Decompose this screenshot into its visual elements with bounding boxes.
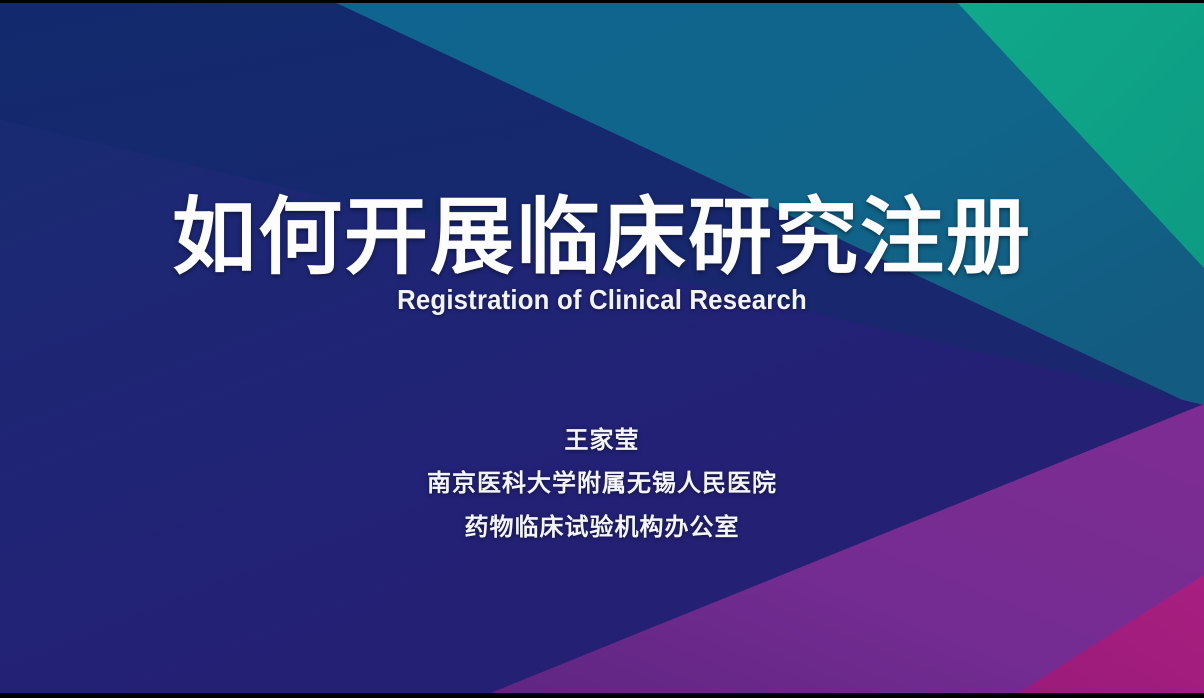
slide-title-chinese: 如何开展临床研究注册 xyxy=(0,196,1204,278)
slide-content: 如何开展临床研究注册 Registration of Clinical Rese… xyxy=(0,0,1204,698)
presenter-organization: 南京医科大学附属无锡人民医院 xyxy=(0,471,1204,497)
presenter-block: 王家莹 南京医科大学附属无锡人民医院 药物临床试验机构办公室 xyxy=(0,428,1204,541)
slide-subtitle-english: Registration of Clinical Research xyxy=(48,284,1156,316)
letterbox-bottom-bar xyxy=(0,693,1204,698)
letterbox-top-bar xyxy=(0,0,1204,3)
title-slide: 如何开展临床研究注册 Registration of Clinical Rese… xyxy=(0,0,1204,698)
presenter-department: 药物临床试验机构办公室 xyxy=(0,515,1204,541)
title-block: 如何开展临床研究注册 Registration of Clinical Rese… xyxy=(0,196,1204,316)
presenter-name: 王家莹 xyxy=(0,428,1204,454)
